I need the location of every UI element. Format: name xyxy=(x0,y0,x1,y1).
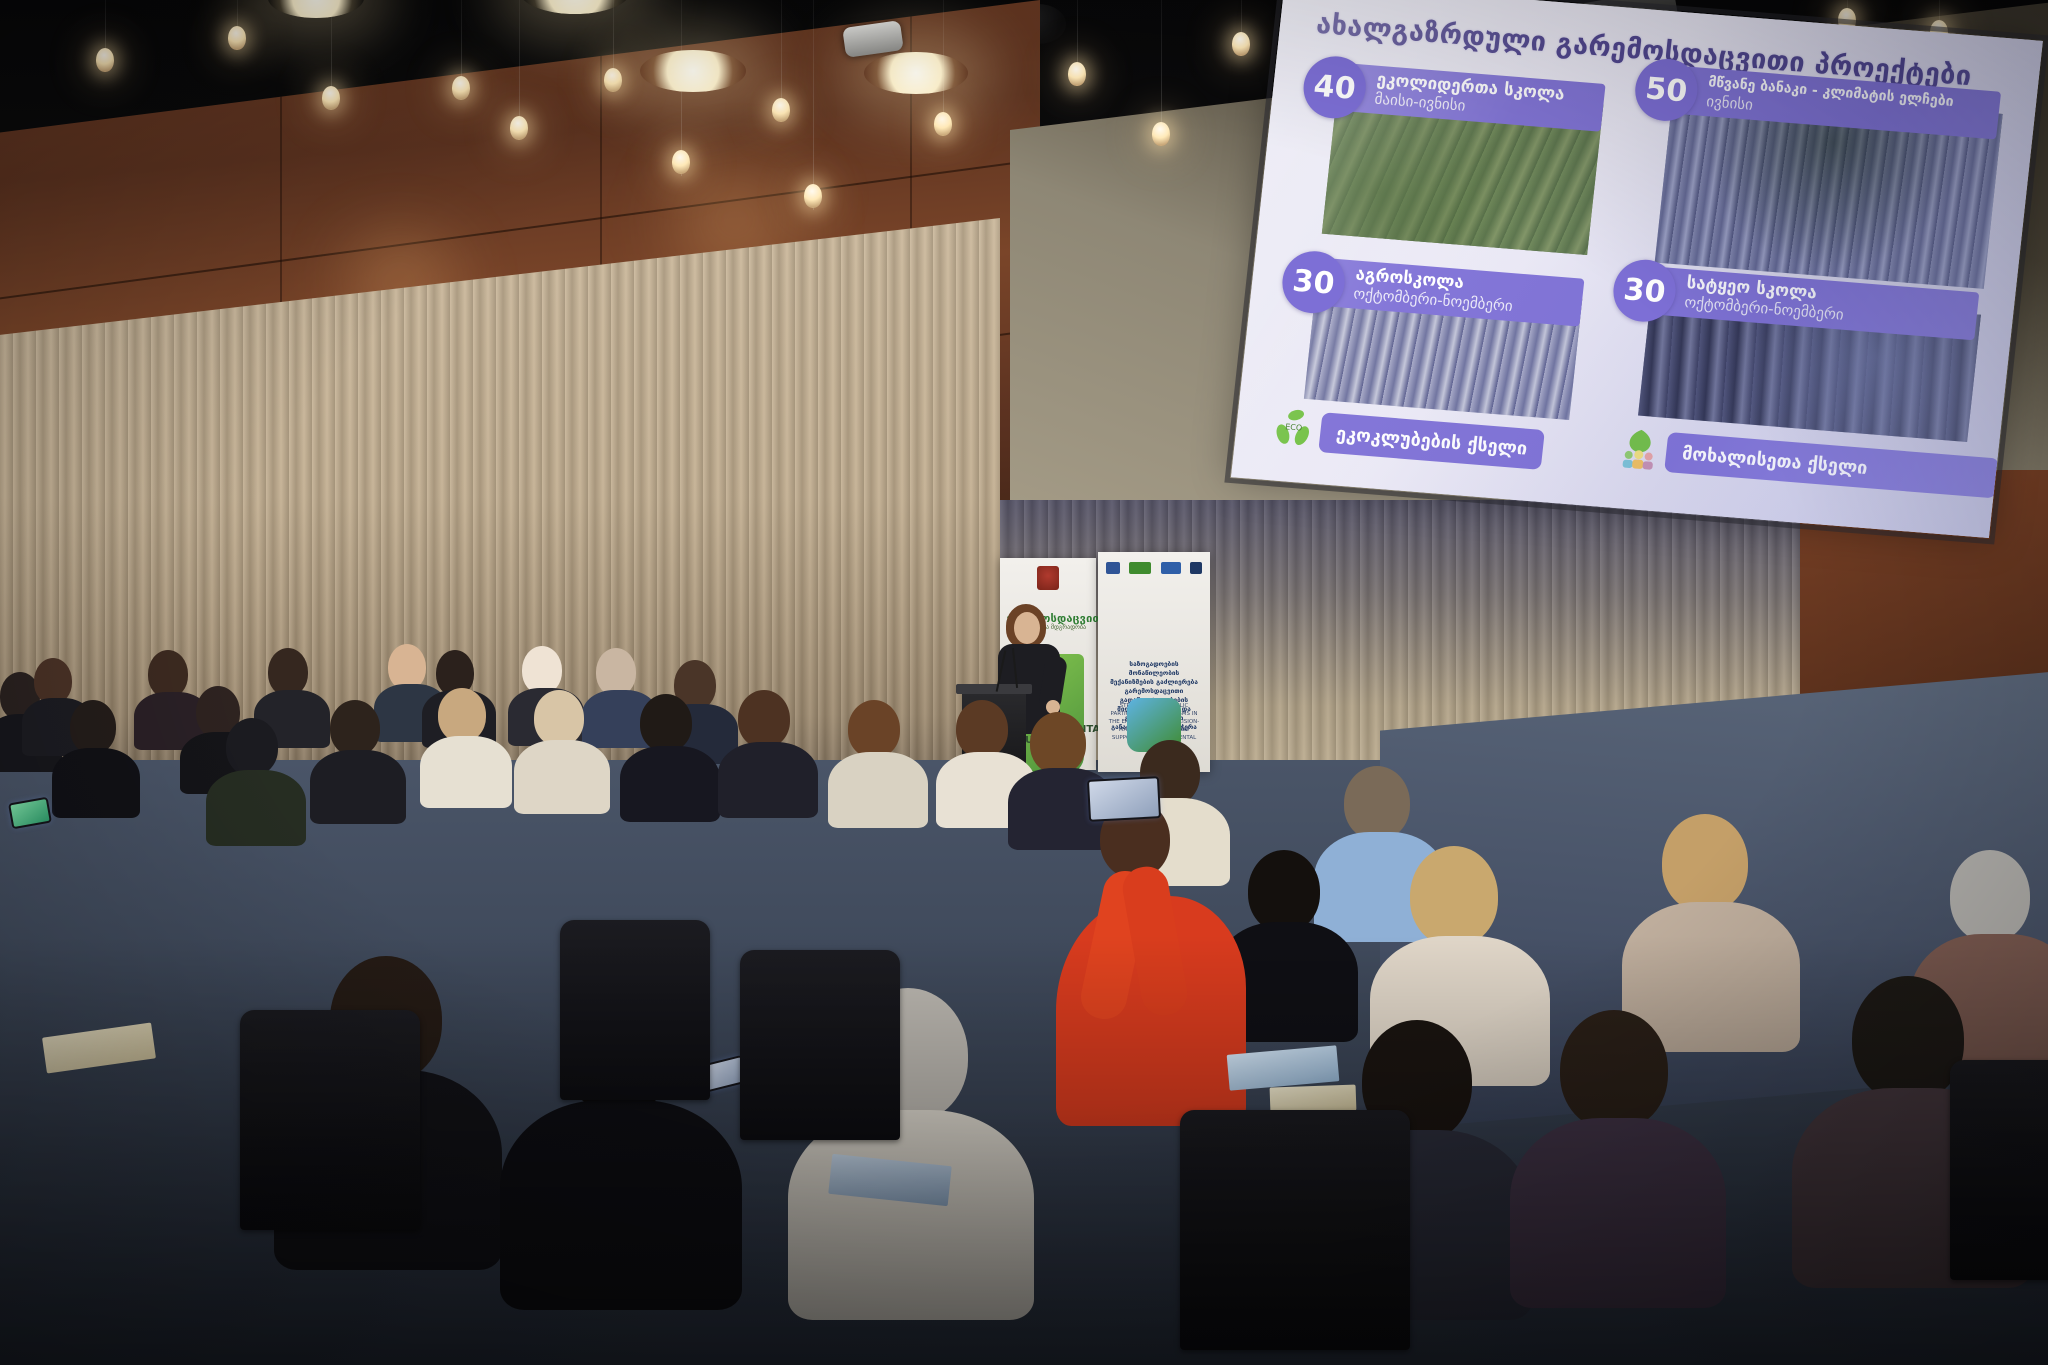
logo-icon xyxy=(1161,562,1181,574)
pendant-lamp xyxy=(510,0,528,140)
logo-icon xyxy=(1190,562,1202,574)
pendant-lamp xyxy=(1152,0,1170,146)
donor-logos xyxy=(1106,560,1202,576)
pendant-lamp xyxy=(804,0,822,210)
pendant-lamp xyxy=(228,0,246,48)
chair xyxy=(740,950,900,1140)
podium-top xyxy=(956,684,1032,694)
pendant-lamp xyxy=(96,0,114,70)
pendant-lamp xyxy=(1068,0,1086,86)
ceiling-downlight xyxy=(640,50,746,92)
rollup-banner-right: საზოგადოების მონაწილეობის მექანიზმების გ… xyxy=(1098,552,1210,772)
conference-hall-photo: ახალგაზრდული გარემოსდაცვითი პროექტები ეკ… xyxy=(0,0,2048,1365)
pendant-lamp xyxy=(604,0,622,92)
pendant-lamp xyxy=(452,0,470,100)
emblem-icon xyxy=(1037,566,1059,590)
logo-icon xyxy=(1129,562,1151,574)
chair xyxy=(560,920,710,1100)
pendant-lamp xyxy=(772,0,790,122)
chair xyxy=(240,1010,420,1230)
projection-screen: ახალგაზრდული გარემოსდაცვითი პროექტები ეკ… xyxy=(1225,0,2048,603)
smartphone[interactable] xyxy=(1087,776,1161,822)
pendant-lamp xyxy=(1232,0,1250,56)
chair xyxy=(1180,1110,1410,1350)
ceiling-downlight xyxy=(864,52,968,94)
chair xyxy=(1950,1060,2048,1280)
logo-icon xyxy=(1106,562,1120,574)
speaker-head xyxy=(1014,612,1040,644)
